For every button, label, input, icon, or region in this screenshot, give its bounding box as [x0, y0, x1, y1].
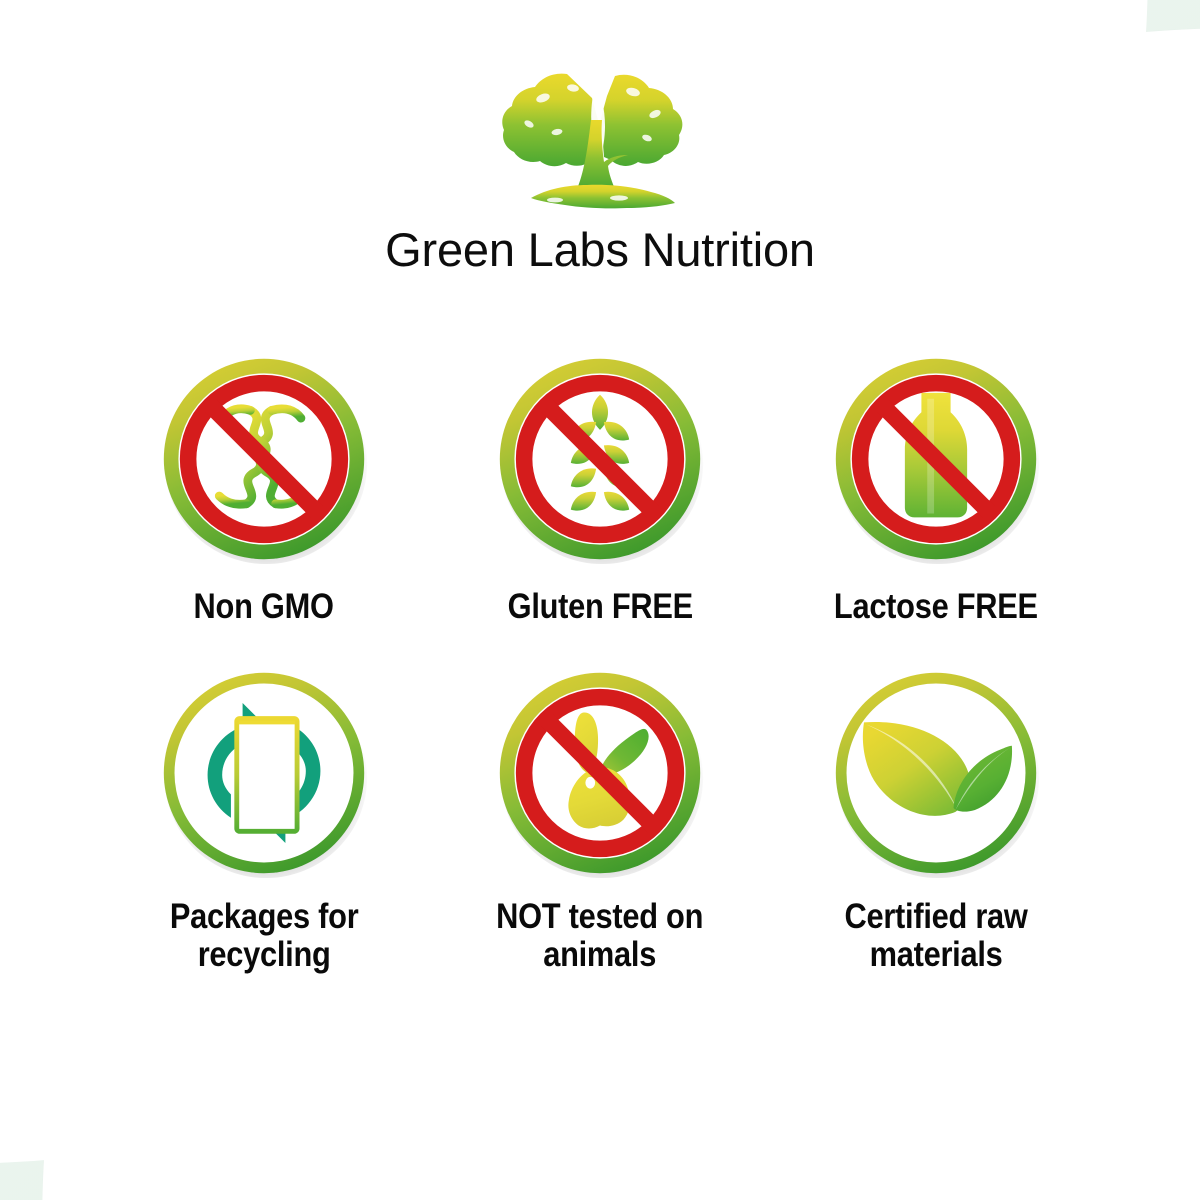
badge-label-line1: Packages for — [170, 897, 359, 936]
badge-label-line1: NOT tested on — [496, 897, 703, 936]
badge-label: Gluten FREE — [507, 588, 692, 626]
badge-lactose-free[interactable]: Lactose FREE — [768, 352, 1104, 626]
milk-bottle-icon — [829, 352, 1043, 566]
badge-certified-raw-materials[interactable]: Certified raw materials — [768, 666, 1104, 974]
certification-badge-grid: Non GMO — [0, 352, 1200, 973]
badge-gluten-free[interactable]: Gluten FREE — [432, 352, 768, 626]
badge-label-line1: Gluten FREE — [507, 587, 692, 626]
badge-label-line1: Lactose FREE — [834, 587, 1038, 626]
badge-label: Packages for recycling — [170, 898, 359, 974]
badge-label-line1: Certified raw — [844, 897, 1027, 936]
rabbit-icon — [493, 666, 707, 880]
dna-helix-icon — [157, 352, 371, 566]
wheat-stalk-icon — [493, 352, 707, 566]
badge-label: Lactose FREE — [834, 588, 1038, 626]
badge-non-gmo[interactable]: Non GMO — [96, 352, 432, 626]
badge-label-line2: animals — [544, 935, 657, 974]
badge-packages-for-recycling[interactable]: Packages for recycling — [96, 666, 432, 974]
oak-tree-icon — [495, 58, 705, 218]
two-leaves-icon — [829, 666, 1043, 880]
badge-label-line1: Non GMO — [194, 587, 334, 626]
recycling-arrows-package-icon — [157, 666, 371, 880]
badge-label: NOT tested on animals — [496, 898, 703, 974]
badge-label-line2: materials — [870, 935, 1003, 974]
brand-header: Green Labs Nutrition — [0, 58, 1200, 276]
badge-label: Certified raw materials — [844, 898, 1027, 974]
badge-not-tested-on-animals[interactable]: NOT tested on animals — [432, 666, 768, 974]
badge-label: Non GMO — [194, 588, 334, 626]
page-title: Green Labs Nutrition — [0, 224, 1200, 276]
badge-label-line2: recycling — [198, 935, 331, 974]
